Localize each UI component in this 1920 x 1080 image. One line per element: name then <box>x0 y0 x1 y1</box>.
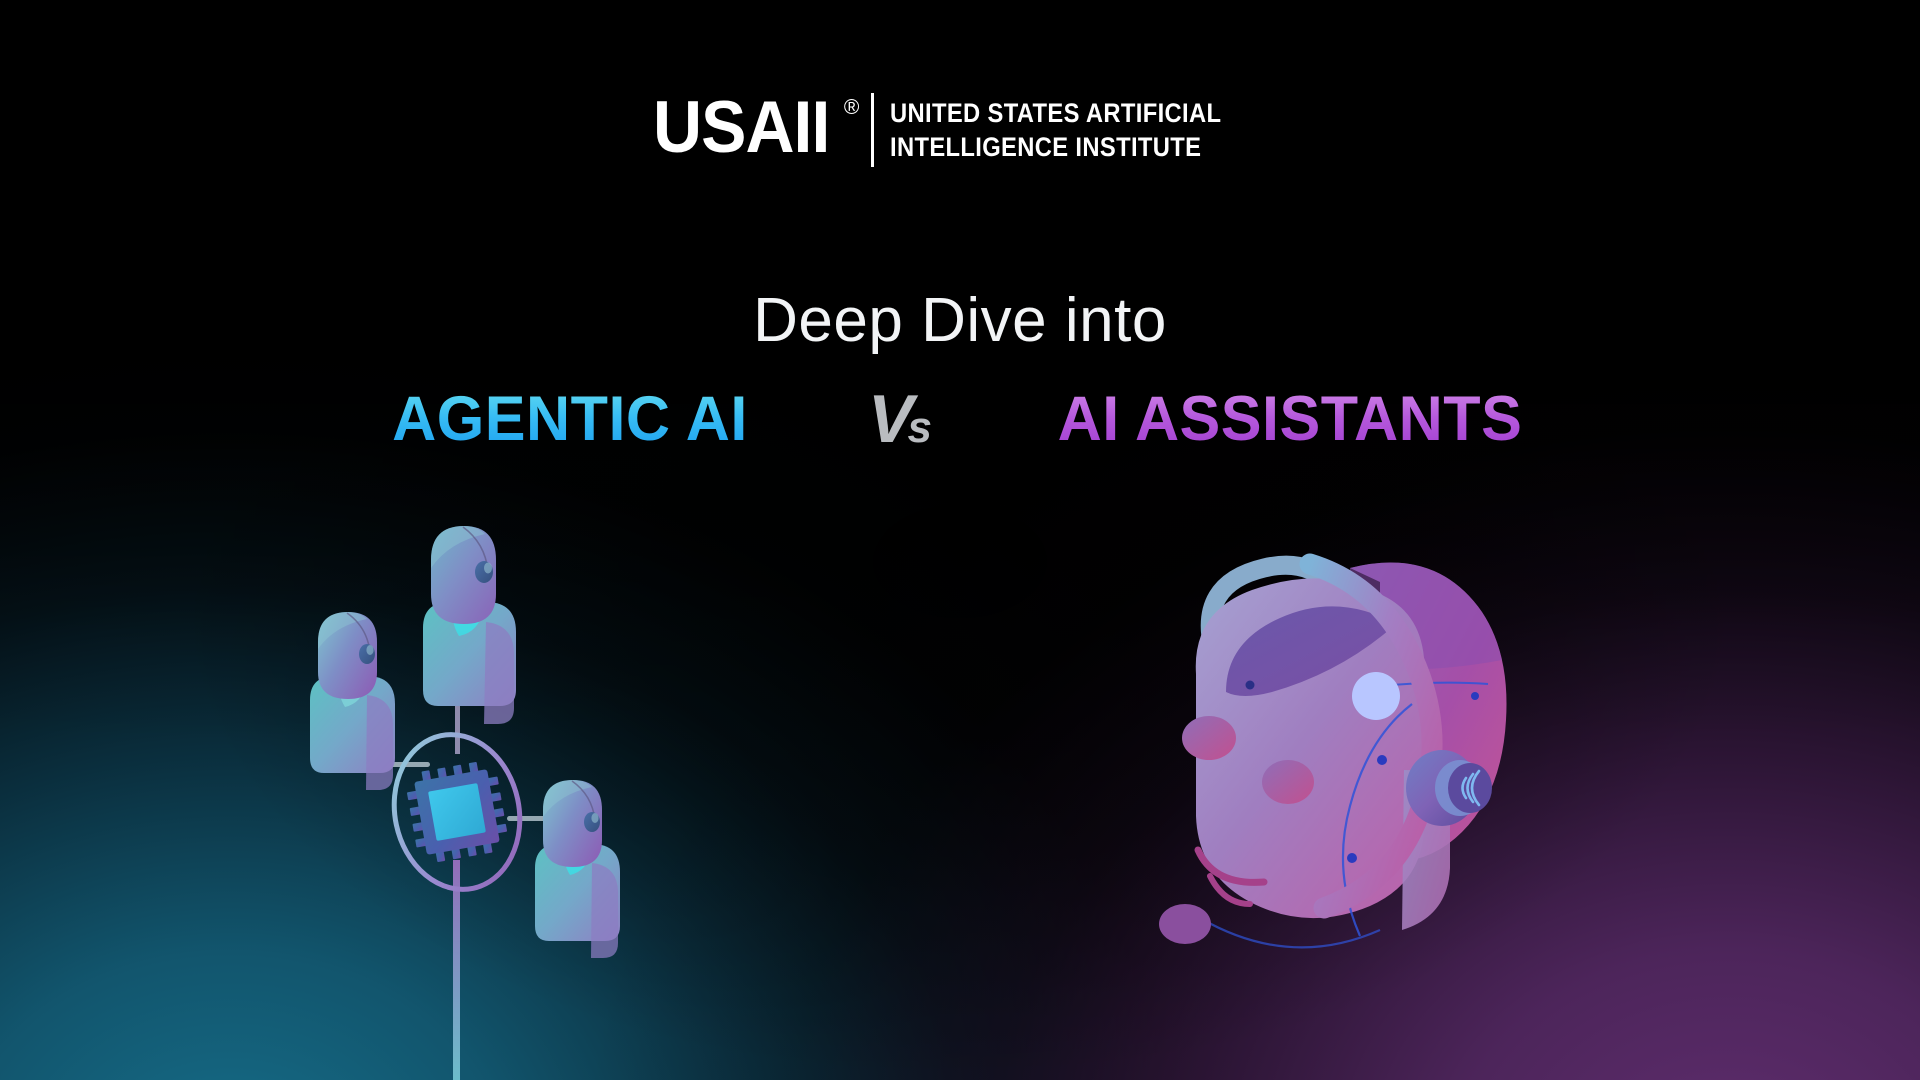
agent-eye-glint <box>591 813 598 823</box>
agentic-ai-network-illustration <box>300 520 730 1080</box>
agent-eye-glint <box>366 645 373 655</box>
agent-figure-right <box>535 780 620 958</box>
visor-indicator-dot <box>1246 681 1255 690</box>
contour-node-1 <box>1471 692 1479 700</box>
versus-row: AGENTIC AI Vs AI ASSISTANTS <box>0 385 1920 453</box>
assistant-robot-svg <box>1160 520 1600 1000</box>
central-stem-lower <box>453 860 460 1080</box>
left-topic-title: AGENTIC AI <box>318 388 822 451</box>
versus-v-letter: V <box>868 385 907 453</box>
contour-node-3 <box>1347 853 1357 863</box>
agent-eye-glint <box>484 563 492 574</box>
usaii-logo: USAII ® UNITED STATES ARTIFICIAL INTELLI… <box>0 93 1920 167</box>
ai-assistant-robot-illustration <box>1160 520 1600 1000</box>
registered-trademark-icon: ® <box>844 97 859 118</box>
contour-node-2 <box>1377 755 1387 765</box>
logo-wordmark: USAII <box>653 93 829 162</box>
agent-figure-top <box>423 526 516 724</box>
kicker-text: Deep Dive into <box>0 290 1920 352</box>
agentic-network-svg <box>300 520 730 1080</box>
versus-s-letter: s <box>907 406 931 450</box>
logo-tagline: UNITED STATES ARTIFICIAL INTELLIGENCE IN… <box>890 93 1267 167</box>
chip-core <box>428 783 486 841</box>
versus-badge: Vs <box>830 385 970 453</box>
agent-shoulder <box>591 863 618 958</box>
logo-tagline-line-2: INTELLIGENCE INSTITUTE <box>890 134 1221 161</box>
headline-block: Deep Dive into AGENTIC AI Vs AI ASSISTAN… <box>0 290 1920 453</box>
robot-cheek-upper <box>1182 716 1236 760</box>
robot-chin-nub <box>1159 904 1211 944</box>
right-topic-title: AI ASSISTANTS <box>980 388 1601 451</box>
logo-mark: USAII ® <box>653 93 859 167</box>
face-contour-line-3 <box>1200 918 1380 947</box>
robot-eye <box>1352 672 1400 720</box>
logo-divider <box>871 93 874 167</box>
agent-shoulder <box>366 695 393 790</box>
agent-figure-left <box>310 612 395 790</box>
robot-cheek-lower <box>1262 760 1314 804</box>
stem-top-agent <box>455 702 460 754</box>
logo-tagline-line-1: UNITED STATES ARTIFICIAL <box>890 100 1221 127</box>
stem-right-agent <box>507 816 549 821</box>
microchip-icon <box>404 759 511 866</box>
agent-shoulder <box>484 622 514 724</box>
slide-canvas: USAII ® UNITED STATES ARTIFICIAL INTELLI… <box>0 0 1920 1080</box>
